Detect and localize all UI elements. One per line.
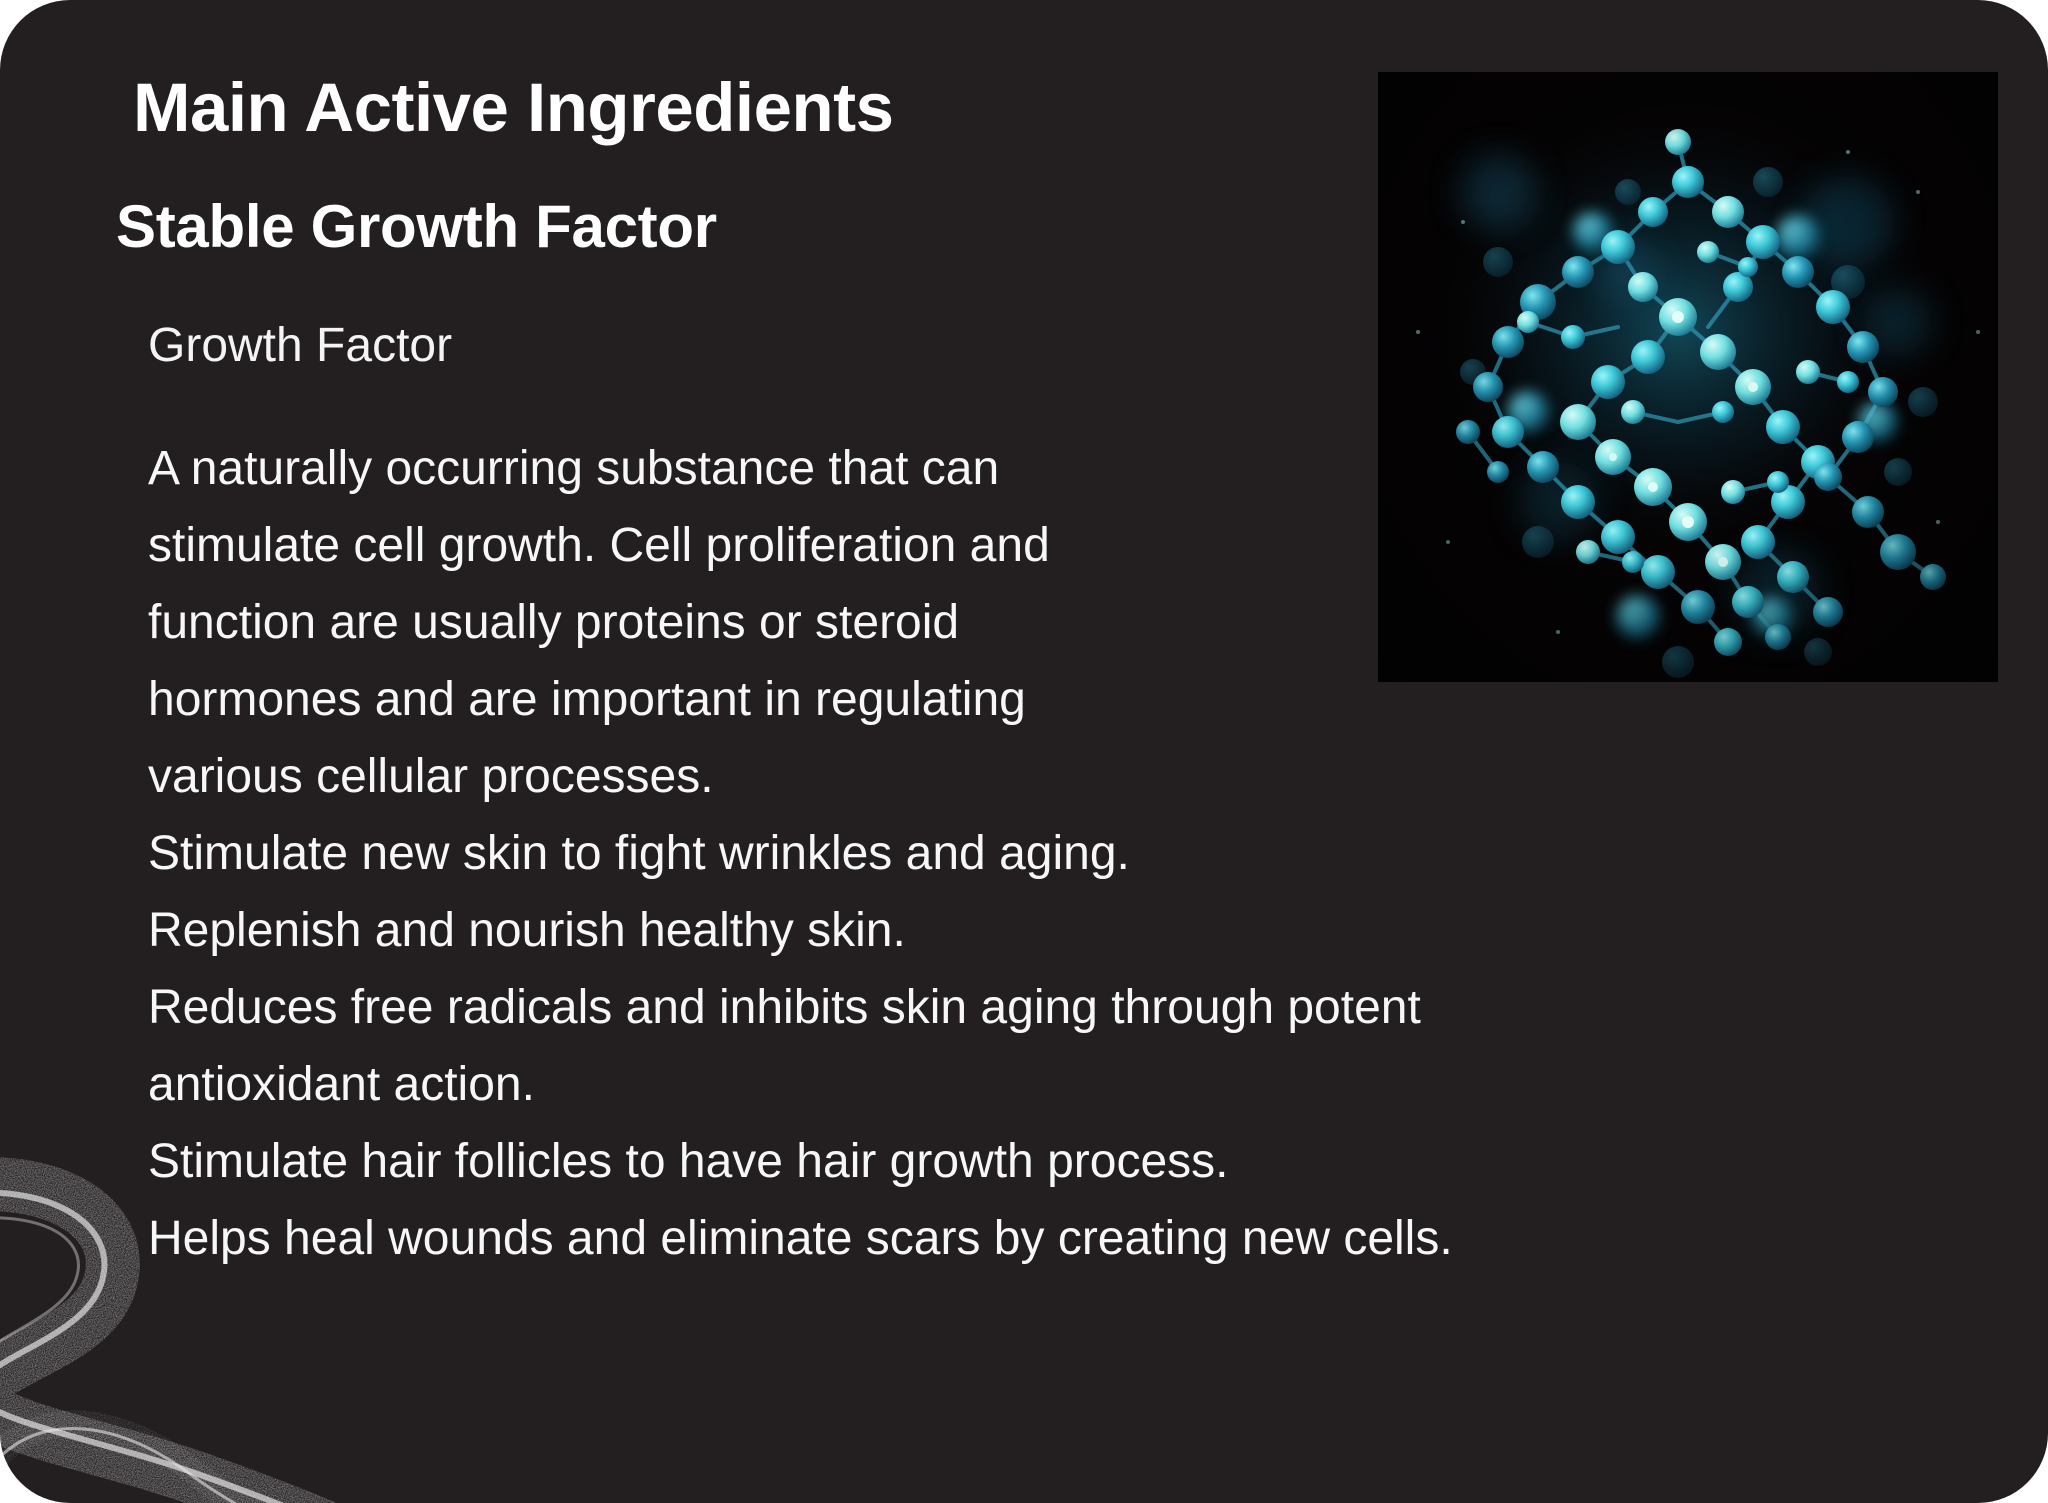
body-line: Reduces free radicals and inhibits skin …	[148, 969, 1948, 1046]
body-line: Replenish and nourish healthy skin.	[148, 892, 1948, 969]
slide-card: Main Active Ingredients Stable Growth Fa…	[0, 0, 2048, 1503]
section-subtitle: Stable Growth Factor	[116, 195, 717, 258]
page-title: Main Active Ingredients	[133, 72, 893, 144]
body-line: Stimulate new skin to fight wrinkles and…	[148, 815, 1948, 892]
lead-label: Growth Factor	[148, 320, 452, 373]
body-line: various cellular processes.	[148, 738, 1948, 815]
molecule-vignette	[1378, 72, 1998, 682]
molecule-backdrop	[1378, 72, 1998, 682]
molecular-structure-image	[1378, 72, 1998, 682]
body-line: Helps heal wounds and eliminate scars by…	[148, 1200, 1948, 1277]
body-line: antioxidant action.	[148, 1046, 1948, 1123]
body-line: Stimulate hair follicles to have hair gr…	[148, 1123, 1948, 1200]
